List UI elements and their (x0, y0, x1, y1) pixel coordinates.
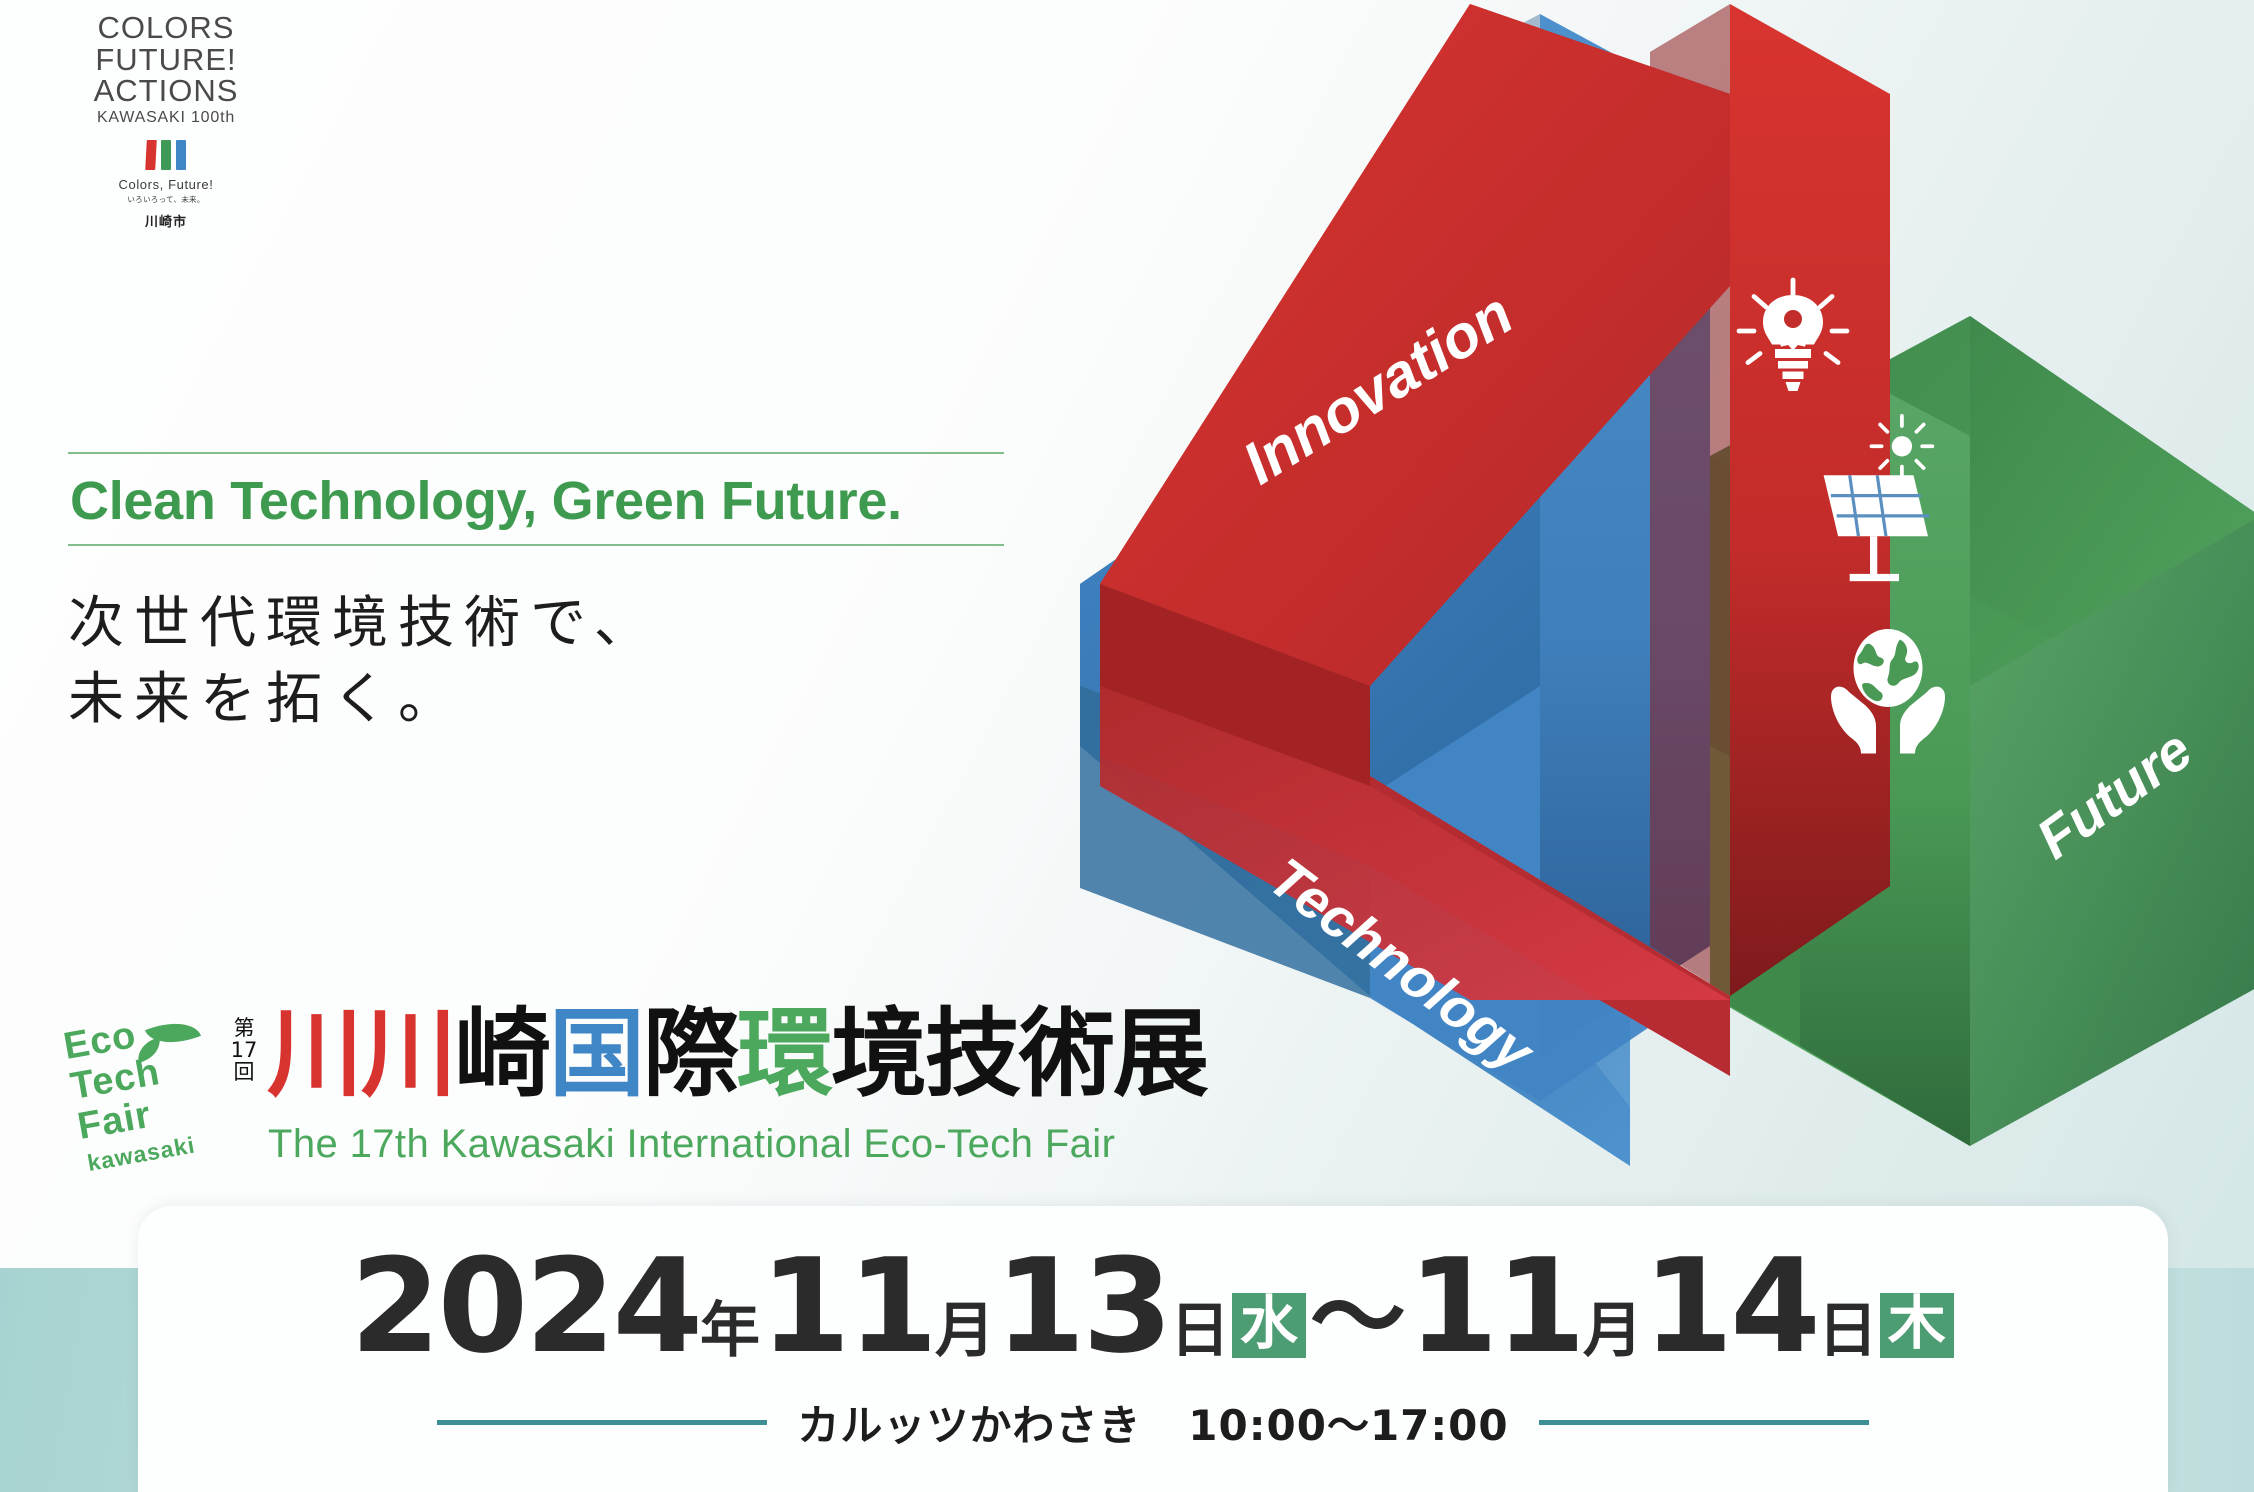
logo-line-actions: ACTIONS (56, 75, 276, 107)
kawasaki-100th-logo: COLORS FUTURE! ACTIONS KAWASAKI 100th Co… (56, 12, 276, 230)
title-char-koku: 国 (549, 998, 643, 1110)
headline-japanese-line-1: 次世代環境技術で、 (68, 586, 1028, 662)
venue-row: カルッツかわさき 10:00〜17:00 (138, 1392, 2168, 1453)
title-char-kawa1: 川 (267, 998, 361, 1110)
year-unit: 年 (700, 1296, 760, 1366)
title-char-saki: 崎 (455, 998, 549, 1110)
edition-suffix: 回 (224, 1062, 264, 1084)
venue-rule-right (1539, 1420, 1869, 1425)
event-dates: 2024年11月13日水〜11月14日木 (138, 1230, 2168, 1382)
title-char-kan: 環 (737, 998, 831, 1110)
start-month-value: 11 (760, 1230, 935, 1382)
end-day-value: 14 (1643, 1230, 1818, 1382)
start-weekday-chip: 水 (1232, 1293, 1306, 1358)
edition-prefix: 第 (224, 1018, 264, 1040)
headline-rule-top (68, 452, 1004, 454)
end-month-value: 11 (1408, 1230, 1583, 1382)
city-name: 川崎市 (56, 211, 276, 230)
kawasaki-tricolor-bars (56, 140, 276, 170)
slogan-japanese: いろいろって、未来。 (56, 194, 276, 205)
venue-rule-left (437, 1420, 767, 1425)
logo-line-kawasaki-100th: KAWASAKI 100th (56, 110, 276, 126)
start-day-unit: 日 (1170, 1296, 1230, 1366)
title-char-kawa2: 川 (361, 998, 455, 1110)
year-value: 2024 (350, 1230, 700, 1382)
bar-green (161, 140, 171, 170)
edition-number-vertical: 第 17 回 (224, 1018, 264, 1083)
title-rest: 境技術展 (831, 998, 1207, 1110)
logo-line-future: FUTURE! (56, 44, 276, 76)
headline-block: Clean Technology, Green Future. 次世代環境技術で… (68, 452, 1028, 738)
headline-japanese-line-2: 未来を拓く。 (68, 662, 1028, 738)
venue-name: カルッツかわさき (797, 1401, 1141, 1450)
infinity-ribbon-artwork: Innovation Technology Future (1070, 0, 2254, 1176)
end-day-unit: 日 (1818, 1296, 1878, 1366)
date-range-separator: 〜 (1308, 1262, 1408, 1374)
bar-blue (176, 140, 186, 170)
title-char-sai: 際 (643, 998, 737, 1110)
venue-and-time: カルッツかわさき 10:00〜17:00 (797, 1392, 1508, 1453)
event-logo-lockup: Eco Tech Fair kawasaki 第 17 回 川川崎国際環境技術展… (62, 1000, 1162, 1190)
eco-tech-fair-logo: Eco Tech Fair kawasaki (62, 1004, 212, 1182)
edition-number: 17 (224, 1040, 264, 1062)
headline-japanese: 次世代環境技術で、 未来を拓く。 (68, 586, 1028, 738)
end-month-unit: 月 (1583, 1296, 1643, 1366)
logo-line-colors: COLORS (56, 12, 276, 44)
event-title-japanese: 川川崎国際環境技術展 (267, 1006, 1207, 1102)
start-day-value: 13 (995, 1230, 1170, 1382)
schedule-card: 2024年11月13日水〜11月14日木 カルッツかわさき 10:00〜17:0… (138, 1206, 2168, 1492)
slogan-english: Colors, Future! (56, 177, 276, 192)
event-title-english: The 17th Kawasaki International Eco-Tech… (268, 1122, 1115, 1167)
start-month-unit: 月 (935, 1296, 995, 1366)
headline-rule-bottom (68, 544, 1004, 546)
poster-canvas: Innovation Technology Future (0, 0, 2254, 1492)
headline-english: Clean Technology, Green Future. (68, 454, 1028, 544)
end-weekday-chip: 木 (1880, 1293, 1954, 1358)
bar-red (145, 140, 157, 170)
event-time: 10:00〜17:00 (1188, 1401, 1508, 1450)
